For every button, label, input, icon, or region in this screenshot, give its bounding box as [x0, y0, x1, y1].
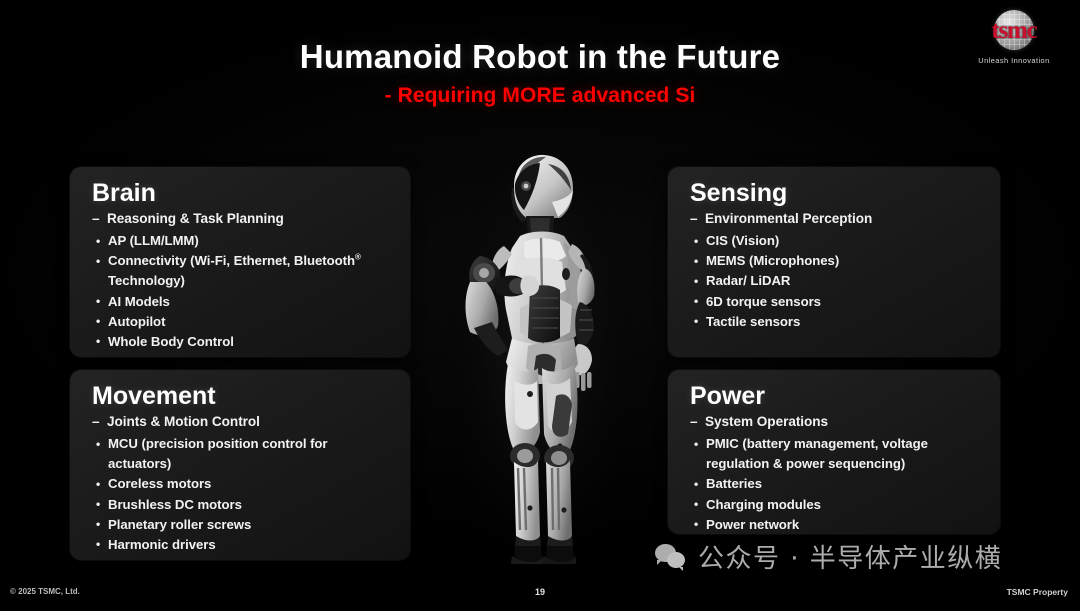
wechat-watermark: 公众号 · 半导体产业纵横 [655, 538, 1002, 575]
wechat-bubble-small [667, 552, 685, 568]
list-item: Planetary roller screws [92, 515, 394, 535]
page-title: Humanoid Robot in the Future [0, 38, 1080, 76]
panel-sensing[interactable]: Sensing Environmental Perception CIS (Vi… [668, 167, 1000, 357]
footer-property: TSMC Property [1007, 587, 1068, 597]
panel-movement[interactable]: Movement Joints & Motion Control MCU (pr… [70, 370, 410, 560]
tsmc-tagline: Unleash Innovation [962, 56, 1066, 65]
humanoid-robot-image [440, 150, 640, 582]
tsmc-brand-text: tsmc [962, 17, 1066, 45]
list-item: Brushless DC motors [92, 495, 394, 515]
panel-sensing-title: Sensing [690, 180, 984, 206]
list-item: Batteries [690, 474, 984, 494]
panel-brain-list: Reasoning & Task Planning AP (LLM/LMM) C… [92, 209, 394, 352]
panel-brain[interactable]: Brain Reasoning & Task Planning AP (LLM/… [70, 167, 410, 357]
footer-page-number: 19 [0, 587, 1080, 597]
list-item: Charging modules [690, 495, 984, 515]
list-item: Reasoning & Task Planning [92, 209, 394, 230]
list-item: CIS (Vision) [690, 231, 984, 251]
list-item: Joints & Motion Control [92, 412, 394, 433]
list-item: AI Models [92, 292, 394, 312]
list-item: 6D torque sensors [690, 292, 984, 312]
list-item: MEMS (Microphones) [690, 251, 984, 271]
list-item: Radar/ LiDAR [690, 271, 984, 291]
page-subtitle: - Requiring MORE advanced Si [0, 84, 1080, 108]
list-item: System Operations [690, 412, 984, 433]
wechat-icon [655, 544, 689, 570]
watermark-text: 公众号 · 半导体产业纵横 [698, 538, 1002, 575]
list-item: Environmental Perception [690, 209, 984, 230]
panel-power[interactable]: Power System Operations PMIC (battery ma… [668, 370, 1000, 534]
list-item: Whole Body Control [92, 332, 394, 352]
panel-power-title: Power [690, 383, 984, 409]
list-item: Connectivity (Wi-Fi, Ethernet, Bluetooth… [92, 251, 394, 291]
list-item: PMIC (battery management, voltage regula… [690, 434, 984, 474]
tsmc-logo: tsmc Unleash Innovation [962, 8, 1066, 65]
panel-power-list: System Operations PMIC (battery manageme… [690, 412, 984, 535]
list-item: Tactile sensors [690, 312, 984, 332]
list-item: Power network [690, 515, 984, 535]
list-item: Coreless motors [92, 474, 394, 494]
list-item: Harmonic drivers [92, 535, 394, 555]
slide-footer: © 2025 TSMC, Ltd. 19 TSMC Property [0, 587, 1080, 601]
tsmc-logo-mark: tsmc [962, 8, 1066, 54]
panel-movement-title: Movement [92, 383, 394, 409]
panel-brain-title: Brain [92, 180, 394, 206]
panel-sensing-list: Environmental Perception CIS (Vision) ME… [690, 209, 984, 332]
list-item: MCU (precision position control for actu… [92, 434, 394, 474]
list-item: Autopilot [92, 312, 394, 332]
list-item: AP (LLM/LMM) [92, 231, 394, 251]
panel-movement-list: Joints & Motion Control MCU (precision p… [92, 412, 394, 555]
